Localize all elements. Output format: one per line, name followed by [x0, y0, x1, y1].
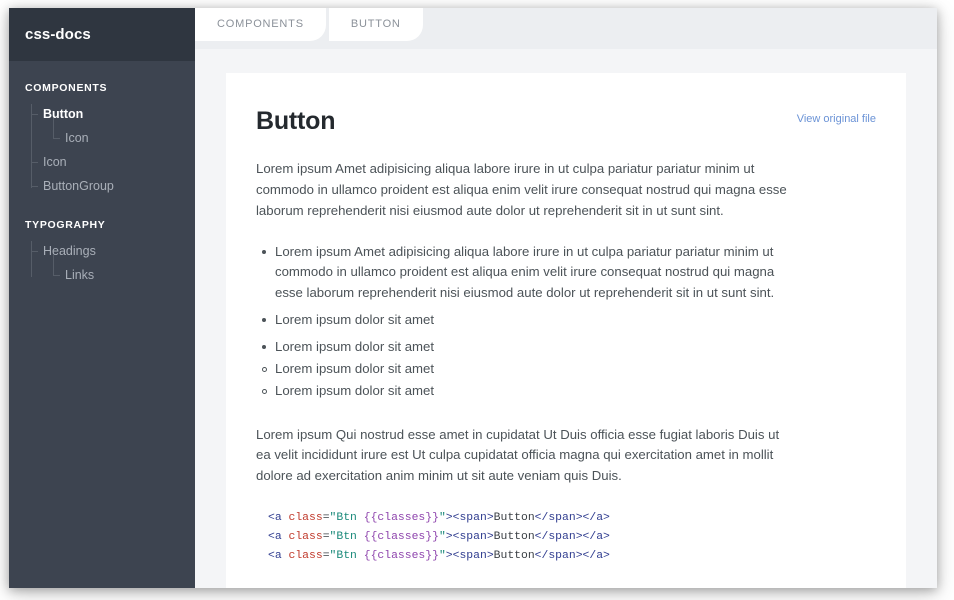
sidebar-tree: HeadingsLinks — [25, 239, 185, 287]
sidebar-item-label: Links — [65, 268, 94, 282]
sidebar-item-label: Headings — [43, 244, 96, 258]
content-scroll-area[interactable]: Button View original file Lorem ipsum Am… — [195, 49, 937, 588]
sidebar-section-title: TYPOGRAPHY — [25, 219, 185, 231]
list-item: Lorem ipsum dolor sit amet — [256, 310, 776, 331]
second-paragraph: Lorem ipsum Qui nostrud esse amet in cup… — [256, 425, 791, 488]
sidebar-nav: COMPONENTSButtonIconIconButtonGroupTYPOG… — [9, 82, 195, 287]
doc-header: Button View original file — [256, 107, 876, 136]
intro-paragraph: Lorem ipsum Amet adipisicing aliqua labo… — [256, 159, 791, 222]
brand-title: css-docs — [25, 26, 91, 43]
list-item: Lorem ipsum dolor sit amet — [256, 359, 776, 380]
sidebar: css-docs COMPONENTSButtonIconIconButtonG… — [9, 8, 195, 588]
sidebar-item-links[interactable]: Links — [25, 263, 185, 287]
list-item: Lorem ipsum dolor sit amet — [256, 337, 776, 358]
code-line: <a class="Btn {{classes}}"><span>Button<… — [268, 528, 876, 547]
code-block[interactable]: <a class="Btn {{classes}}"><span>Button<… — [256, 509, 876, 566]
page-title: Button — [256, 107, 335, 136]
sidebar-item-icon[interactable]: Icon — [25, 150, 185, 174]
code-line: <a class="Btn {{classes}}"><span>Button<… — [268, 509, 876, 528]
list-item: Lorem ipsum dolor sit amet — [256, 381, 776, 402]
browser-window: css-docs COMPONENTSButtonIconIconButtonG… — [9, 8, 937, 588]
sidebar-header: css-docs — [9, 8, 195, 61]
sidebar-section: COMPONENTSButtonIconIconButtonGroup — [9, 82, 195, 198]
sidebar-item-label: ButtonGroup — [43, 179, 114, 193]
sidebar-section: TYPOGRAPHYHeadingsLinks — [9, 219, 195, 287]
tab-components[interactable]: COMPONENTS — [195, 8, 326, 41]
sidebar-item-label: Icon — [43, 155, 67, 169]
content-card: Button View original file Lorem ipsum Am… — [226, 73, 906, 588]
sidebar-section-title: COMPONENTS — [25, 82, 185, 94]
list-item: Lorem ipsum Amet adipisicing aliqua labo… — [256, 242, 776, 305]
sidebar-item-label: Icon — [65, 131, 89, 145]
sidebar-item-headings[interactable]: Headings — [25, 239, 185, 263]
tab-button[interactable]: BUTTON — [329, 8, 423, 41]
sidebar-tree: ButtonIconIconButtonGroup — [25, 102, 185, 198]
view-original-file-link[interactable]: View original file — [797, 113, 876, 125]
sidebar-item-button[interactable]: Button — [25, 102, 185, 126]
tab-label: BUTTON — [351, 18, 401, 30]
sidebar-item-buttongroup[interactable]: ButtonGroup — [25, 174, 185, 198]
code-line: <a class="Btn {{classes}}"><span>Button<… — [268, 547, 876, 566]
sidebar-item-label: Button — [43, 107, 83, 121]
doc-list: Lorem ipsum Amet adipisicing aliqua labo… — [256, 242, 776, 402]
tab-bar: COMPONENTSBUTTON — [195, 8, 937, 49]
main-area: COMPONENTSBUTTON Button View original fi… — [195, 8, 937, 588]
tab-label: COMPONENTS — [217, 18, 304, 30]
sidebar-item-icon[interactable]: Icon — [25, 126, 185, 150]
